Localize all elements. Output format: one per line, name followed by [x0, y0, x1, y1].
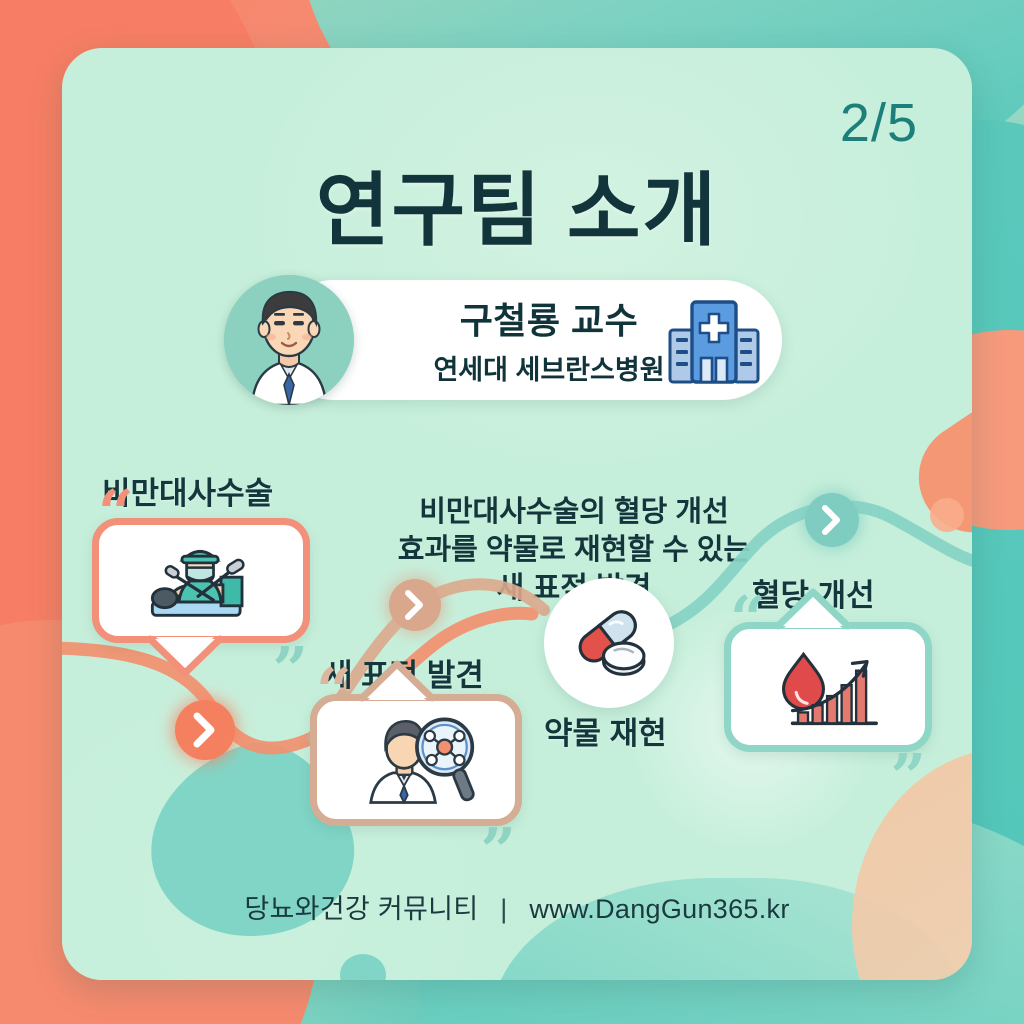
surgery-operation-icon [92, 518, 310, 643]
footer-url[interactable]: www.DangGun365.kr [529, 894, 789, 924]
step-bubble-glucose-improvement: “ ” [724, 622, 932, 752]
quote-close-icon: ” [480, 820, 516, 882]
infographic-canvas: 2/5 연구팀 소개 [0, 0, 1024, 1024]
quote-close-icon: ” [272, 639, 308, 701]
researcher-magnifier-molecule-icon [310, 694, 522, 826]
bubble-tail-surgery [148, 637, 222, 677]
pill-capsule-tablet-icon [563, 597, 655, 689]
step-node-drug-reproduction [544, 578, 674, 708]
arrow-step3-to-step4 [805, 493, 859, 547]
main-card: 2/5 연구팀 소개 [62, 48, 972, 980]
step-label-drug-reproduction: 약물 재현 [544, 708, 667, 753]
footer: 당뇨와건강 커뮤니티 | www.DangGun365.kr [62, 887, 972, 926]
arrow-step1-to-step2 [175, 700, 235, 760]
arrow-step2-to-step3 [389, 579, 441, 631]
footer-community: 당뇨와건강 커뮤니티 [244, 894, 478, 924]
step-bubble-new-target: “ ” [310, 694, 522, 826]
flow-connector-graphic [62, 48, 972, 980]
quote-close-icon: ” [890, 746, 926, 808]
blood-drop-bar-chart-icon [724, 622, 932, 752]
footer-separator: | [500, 894, 507, 924]
step-bubble-surgery: “ ” [92, 518, 310, 643]
